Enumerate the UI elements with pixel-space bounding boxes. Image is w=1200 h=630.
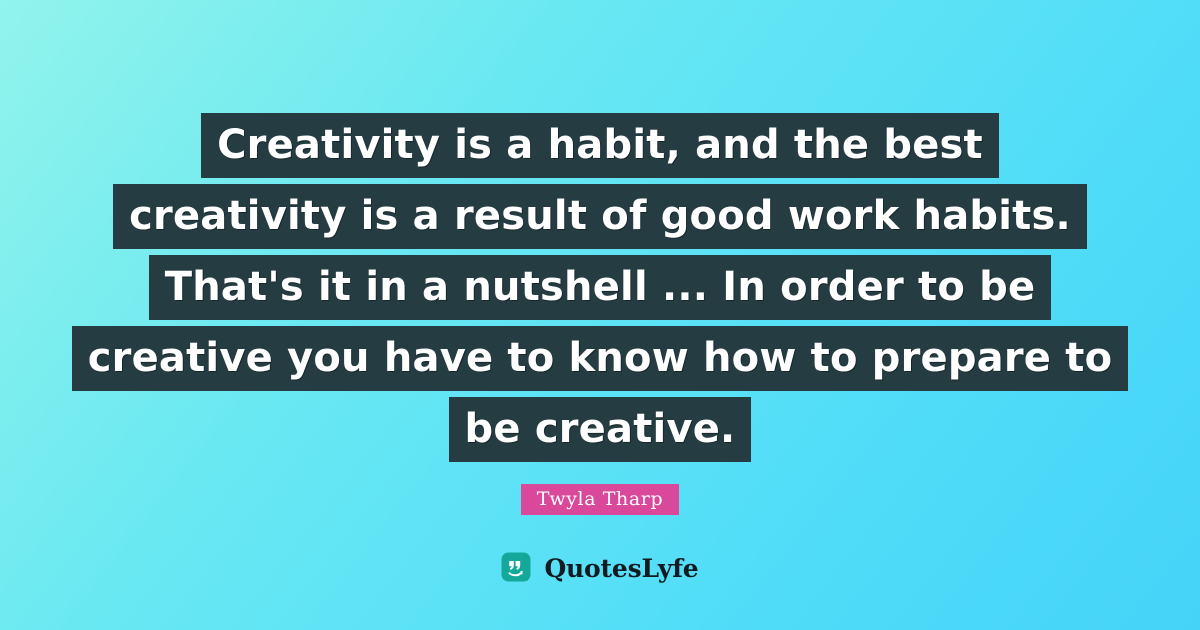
quote-line: creativity is a result of good work habi… bbox=[113, 184, 1087, 249]
quote-block: Creativity is a habit, and the best crea… bbox=[0, 113, 1200, 515]
author-attribution: Twyla Tharp bbox=[521, 484, 680, 515]
quote-line: creative you have to know how to prepare… bbox=[72, 326, 1129, 391]
quote-line: be creative. bbox=[449, 397, 752, 462]
quote-bubble-icon bbox=[501, 552, 535, 586]
quote-line: That's it in a nutshell ... In order to … bbox=[149, 255, 1052, 320]
brand-logo: QuotesLyfe bbox=[0, 552, 1200, 586]
quote-line: Creativity is a habit, and the best bbox=[201, 113, 999, 178]
brand-name: QuotesLyfe bbox=[544, 554, 698, 584]
